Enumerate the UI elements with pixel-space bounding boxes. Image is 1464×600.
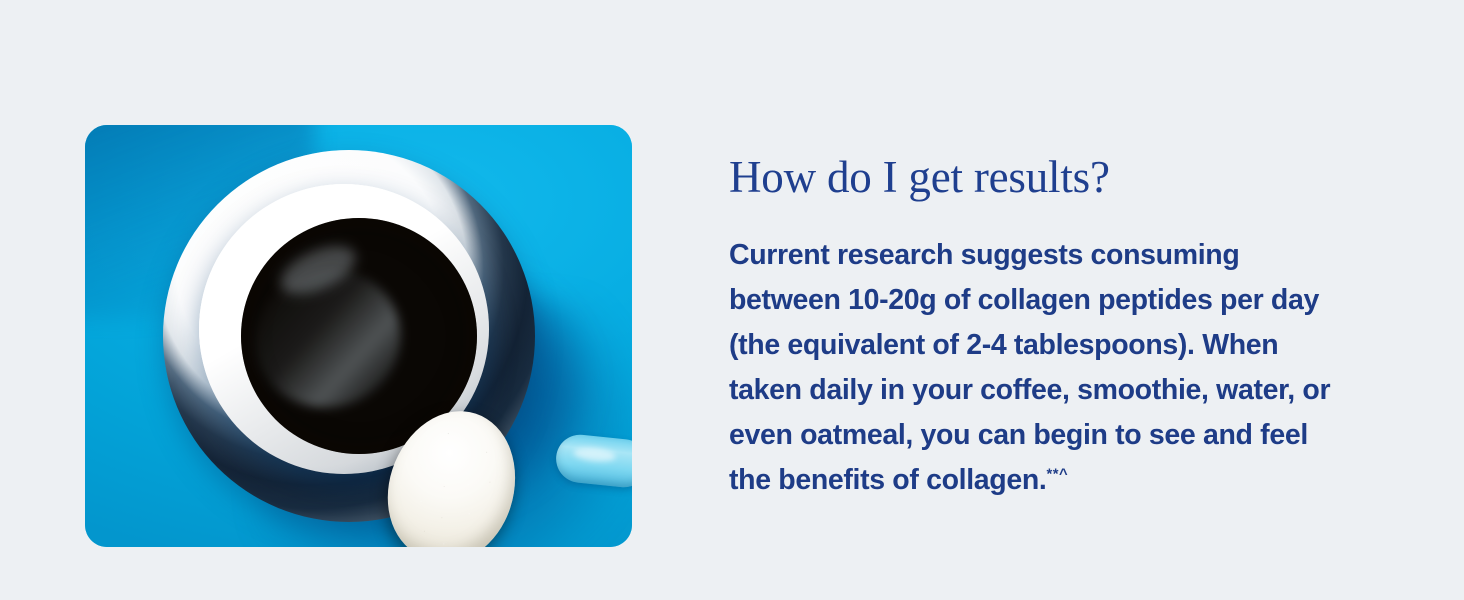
section-headline: How do I get results? [729,152,1349,202]
copy-column: How do I get results? Current research s… [729,152,1349,503]
footnote-marker: **^ [1046,467,1068,483]
coffee-collagen-image-card [85,125,632,547]
coffee-photo [85,125,632,547]
collagen-results-promo-section: How do I get results? Current research s… [0,0,1464,600]
body-text: Current research suggests consuming betw… [729,239,1330,496]
section-body-text: Current research suggests consuming betw… [729,233,1349,503]
